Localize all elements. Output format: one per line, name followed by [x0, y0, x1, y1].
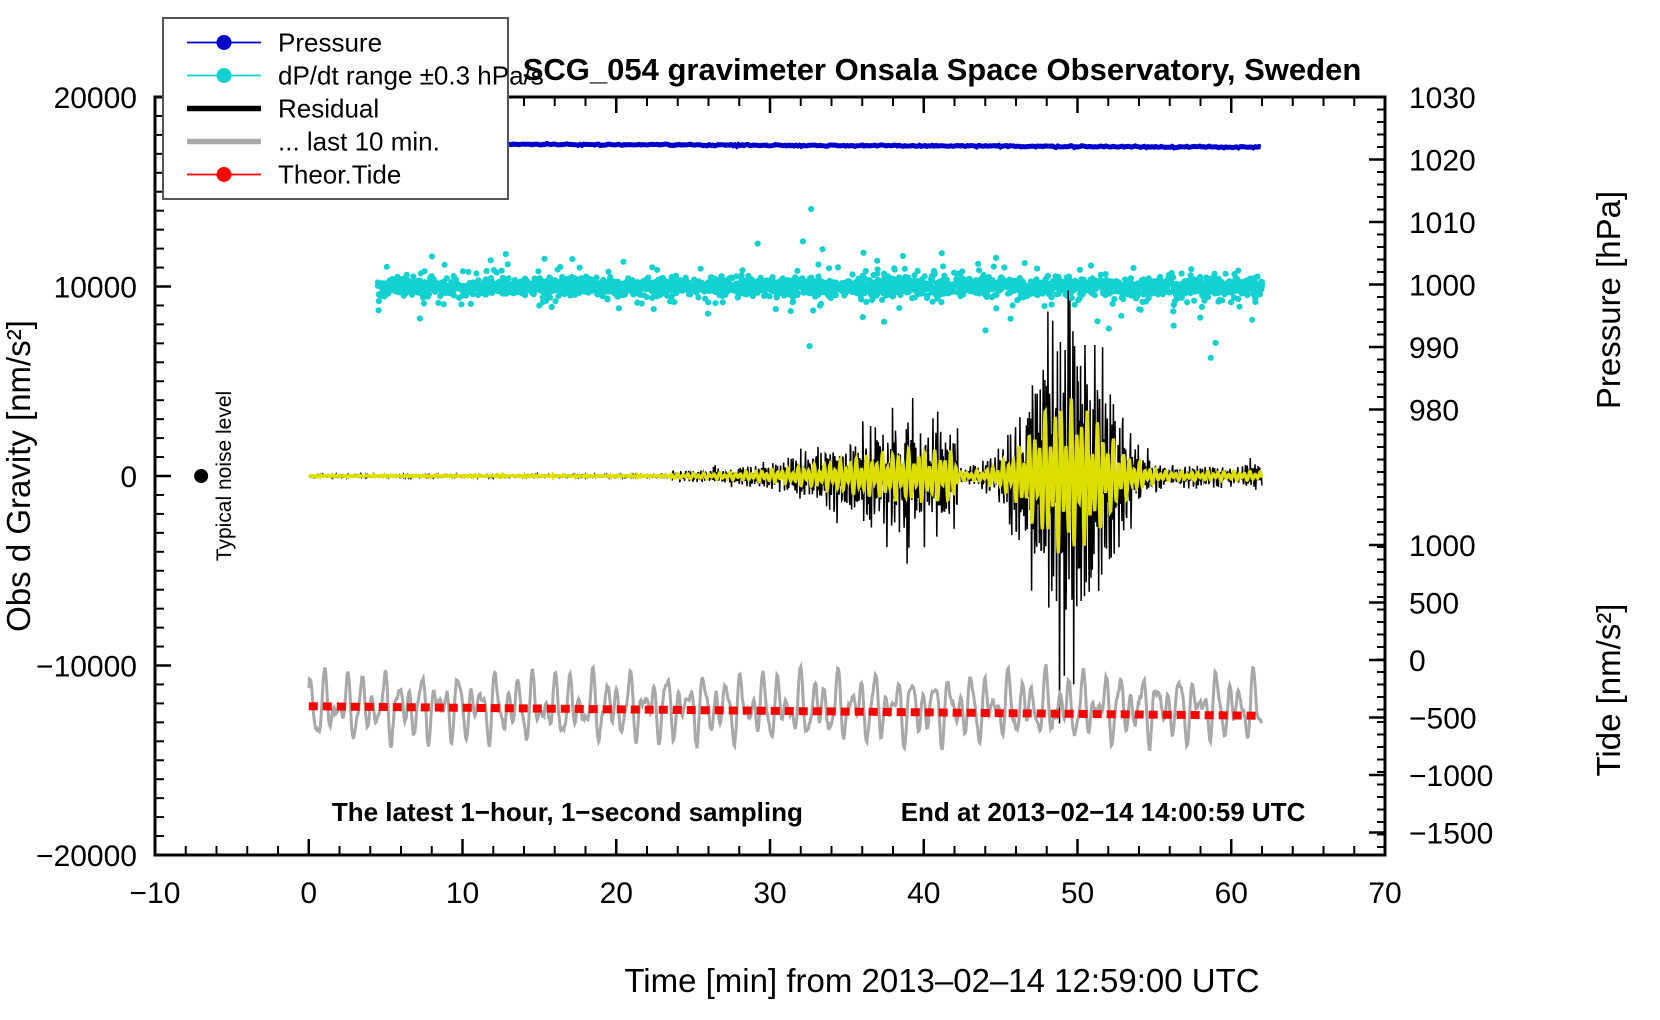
dpdt-point	[842, 287, 848, 293]
dpdt-point	[889, 278, 895, 284]
dpdt-point	[1250, 284, 1256, 290]
dpdt-point	[1171, 323, 1177, 329]
x-tick-label: 10	[446, 877, 479, 910]
dpdt-point	[1056, 276, 1062, 282]
dpdt-point	[1130, 265, 1136, 271]
dpdt-point	[1244, 292, 1250, 298]
dpdt-point	[815, 273, 821, 279]
dpdt-point	[1022, 260, 1028, 266]
legend-label: Theor.Tide	[278, 160, 401, 190]
dpdt-point	[1191, 298, 1197, 304]
dpdt-point	[984, 294, 990, 300]
dpdt-point	[1219, 297, 1225, 303]
dpdt-point	[675, 281, 681, 287]
dpdt-point	[866, 286, 872, 292]
sampling-note: The latest 1−hour, 1−second sampling	[332, 797, 803, 827]
dpdt-point	[710, 287, 716, 293]
dpdt-point	[544, 288, 550, 294]
dpdt-point	[641, 292, 647, 298]
dpdt-point	[891, 265, 897, 271]
dpdt-point	[554, 283, 560, 289]
dpdt-point	[1006, 277, 1012, 283]
dpdt-point	[1103, 271, 1109, 277]
dpdt-point	[853, 279, 859, 285]
dpdt-point	[686, 280, 692, 286]
dpdt-point	[1106, 285, 1112, 291]
dpdt-point	[469, 286, 475, 292]
dpdt-point	[1092, 277, 1098, 283]
dpdt-point	[754, 285, 760, 291]
dpdt-point	[1005, 291, 1011, 297]
gravimeter-chart: SCG_054 gravimeter Onsala Space Observat…	[0, 0, 1660, 1020]
y-tick-label-left: 20000	[54, 82, 137, 115]
dpdt-point	[1171, 302, 1177, 308]
dpdt-point	[1170, 308, 1176, 314]
dpdt-point	[1094, 318, 1100, 324]
dpdt-point	[770, 274, 776, 280]
dpdt-point	[1233, 275, 1239, 281]
dpdt-point	[881, 319, 887, 325]
dpdt-point	[659, 276, 665, 282]
dpdt-point	[607, 274, 613, 280]
dpdt-point	[993, 255, 999, 261]
dpdt-point	[1139, 277, 1145, 283]
dpdt-point	[666, 279, 672, 285]
dpdt-point	[772, 286, 778, 292]
dpdt-point	[1053, 291, 1059, 297]
dpdt-point	[860, 273, 866, 279]
dpdt-point	[980, 276, 986, 282]
dpdt-point	[676, 287, 682, 293]
dpdt-point	[1139, 299, 1145, 305]
dpdt-point	[922, 273, 928, 279]
x-tick-label: 70	[1368, 877, 1401, 910]
dpdt-point	[1119, 295, 1125, 301]
dpdt-point	[777, 290, 783, 296]
dpdt-point	[712, 300, 718, 306]
y-tick-label-pressure: 1020	[1409, 145, 1476, 178]
dpdt-point	[875, 290, 881, 296]
x-tick-label: 30	[753, 877, 786, 910]
dpdt-point	[1001, 264, 1007, 270]
dpdt-point	[1034, 266, 1040, 272]
dpdt-point	[1236, 304, 1242, 310]
dpdt-point	[500, 275, 506, 281]
dpdt-point	[896, 305, 902, 311]
dpdt-point	[572, 276, 578, 282]
dpdt-point	[614, 280, 620, 286]
dpdt-point	[705, 311, 711, 317]
dpdt-point	[1223, 271, 1229, 277]
dpdt-point	[591, 278, 597, 284]
dpdt-point	[935, 288, 941, 294]
y-tick-label-pressure: 1010	[1409, 207, 1476, 240]
dpdt-point	[421, 300, 427, 306]
dpdt-point	[947, 287, 953, 293]
y-tick-label-pressure: 1000	[1409, 270, 1476, 303]
dpdt-point	[800, 238, 806, 244]
dpdt-point	[1018, 279, 1024, 285]
dpdt-point	[905, 282, 911, 288]
dpdt-point	[1077, 267, 1083, 273]
dpdt-point	[924, 295, 930, 301]
dpdt-point	[863, 299, 869, 305]
dpdt-point	[484, 281, 490, 287]
dpdt-point	[414, 278, 420, 284]
dpdt-point	[967, 280, 973, 286]
dpdt-point	[1169, 270, 1175, 276]
dpdt-point	[860, 314, 866, 320]
dpdt-point	[460, 268, 466, 274]
dpdt-point	[533, 277, 539, 283]
dpdt-point	[993, 305, 999, 311]
dpdt-point	[733, 273, 739, 279]
dpdt-point	[646, 280, 652, 286]
dpdt-point	[815, 261, 821, 267]
y-axis-label-left: Obs d Gravity [nm/s²]	[0, 320, 37, 632]
dpdt-point	[707, 279, 713, 285]
dpdt-point	[550, 287, 556, 293]
dpdt-point	[597, 281, 603, 287]
dpdt-point	[957, 283, 963, 289]
x-axis-label: Time [min] from 2013‒02‒14 12:59:00 UTC	[624, 962, 1259, 999]
dpdt-point	[1116, 279, 1122, 285]
dpdt-point	[1045, 282, 1051, 288]
dpdt-point	[519, 286, 525, 292]
typical-noise-marker	[194, 469, 208, 483]
dpdt-point	[826, 265, 832, 271]
legend-label: Residual	[278, 94, 379, 124]
dpdt-point	[934, 280, 940, 286]
dpdt-point	[567, 292, 573, 298]
legend-swatch-dot	[217, 167, 232, 182]
y-tick-label-left: −20000	[36, 840, 137, 873]
x-tick-label: 60	[1215, 877, 1248, 910]
y-tick-label-left: 10000	[54, 272, 137, 305]
x-tick-label: −10	[130, 877, 181, 910]
dpdt-point	[1003, 283, 1009, 289]
dpdt-point	[651, 306, 657, 312]
x-tick-label: 50	[1061, 877, 1094, 910]
legend-swatch-dot	[217, 68, 232, 83]
dpdt-point	[535, 268, 541, 274]
dpdt-point	[1149, 289, 1155, 295]
dpdt-point	[604, 295, 610, 301]
dpdt-point	[630, 279, 636, 285]
dpdt-point	[512, 277, 518, 283]
chart-title: SCG_054 gravimeter Onsala Space Observat…	[523, 52, 1362, 87]
dpdt-point	[411, 285, 417, 291]
dpdt-point	[879, 297, 885, 303]
dpdt-point	[603, 283, 609, 289]
dpdt-point	[900, 253, 906, 259]
dpdt-point	[842, 282, 848, 288]
y-tick-label-tide: −500	[1409, 703, 1477, 736]
dpdt-point	[940, 263, 946, 269]
dpdt-point	[1220, 288, 1226, 294]
dpdt-point	[739, 267, 745, 273]
dpdt-point	[639, 300, 645, 306]
legend-label: Pressure	[278, 28, 382, 58]
dpdt-point	[1127, 288, 1133, 294]
dpdt-point	[543, 298, 549, 304]
dpdt-point	[988, 278, 994, 284]
dpdt-point	[773, 306, 779, 312]
dpdt-point	[1078, 276, 1084, 282]
y-axis-label-right-tide: Tide [nm/s²]	[1590, 604, 1627, 777]
dpdt-point	[992, 292, 998, 298]
dpdt-point	[376, 307, 382, 313]
dpdt-point	[764, 292, 770, 298]
dpdt-point	[957, 271, 963, 277]
dpdt-point	[881, 271, 887, 277]
dpdt-point	[879, 278, 885, 284]
dpdt-point	[467, 280, 473, 286]
dpdt-point	[1017, 289, 1023, 295]
dpdt-point	[719, 275, 725, 281]
dpdt-point	[905, 275, 911, 281]
dpdt-point	[421, 268, 427, 274]
y-tick-label-left: −10000	[36, 651, 137, 684]
dpdt-point	[384, 264, 390, 270]
dpdt-point	[505, 261, 511, 267]
dpdt-point	[380, 280, 386, 286]
dpdt-point	[381, 293, 387, 299]
end-time-note: End at 2013−02−14 14:00:59 UTC	[901, 797, 1306, 827]
dpdt-point	[982, 327, 988, 333]
dpdt-point	[456, 295, 462, 301]
dpdt-point	[437, 281, 443, 287]
dpdt-point	[726, 276, 732, 282]
dpdt-point	[1033, 292, 1039, 298]
dpdt-point	[531, 291, 537, 297]
dpdt-point	[765, 280, 771, 286]
dpdt-point	[1136, 306, 1142, 312]
dpdt-point	[503, 251, 509, 257]
dpdt-point	[1180, 280, 1186, 286]
dpdt-point	[552, 298, 558, 304]
x-tick-label: 40	[907, 877, 940, 910]
dpdt-point	[939, 250, 945, 256]
dpdt-point	[452, 281, 458, 287]
dpdt-point	[1231, 288, 1237, 294]
dpdt-point	[938, 299, 944, 305]
dpdt-point	[577, 265, 583, 271]
dpdt-point	[1008, 316, 1014, 322]
dpdt-point	[506, 275, 512, 281]
dpdt-point	[720, 299, 726, 305]
dpdt-point	[1049, 302, 1055, 308]
dpdt-point	[1166, 278, 1172, 284]
dpdt-point	[1027, 287, 1033, 293]
dpdt-point	[1100, 282, 1106, 288]
dpdt-point	[1249, 317, 1255, 323]
dpdt-point	[697, 284, 703, 290]
dpdt-point	[957, 290, 963, 296]
dpdt-point	[555, 267, 561, 273]
y-tick-label-tide: 0	[1409, 645, 1426, 678]
dpdt-point	[442, 262, 448, 268]
dpdt-point	[1156, 277, 1162, 283]
y-tick-label-tide: −1500	[1409, 818, 1493, 851]
dpdt-point	[807, 343, 813, 349]
dpdt-point	[800, 277, 806, 283]
dpdt-point	[743, 284, 749, 290]
dpdt-point	[417, 315, 423, 321]
dpdt-point	[488, 257, 494, 263]
dpdt-point	[909, 295, 915, 301]
dpdt-point	[818, 301, 824, 307]
legend-swatch-dot	[217, 35, 232, 50]
y-axis-label-right-pressure: Pressure [hPa]	[1590, 191, 1627, 409]
dpdt-point	[777, 283, 783, 289]
dpdt-point	[858, 295, 864, 301]
dpdt-point	[716, 292, 722, 298]
dpdt-point	[1226, 278, 1232, 284]
dpdt-point	[499, 283, 505, 289]
dpdt-point	[973, 277, 979, 283]
dpdt-point	[636, 285, 642, 291]
dpdt-point	[915, 268, 921, 274]
dpdt-point	[725, 287, 731, 293]
dpdt-point	[1251, 277, 1257, 283]
dpdt-point	[1087, 286, 1093, 292]
dpdt-point	[429, 284, 435, 290]
dpdt-point	[584, 278, 590, 284]
dpdt-point	[849, 271, 855, 277]
dpdt-point	[810, 307, 816, 313]
y-tick-label-tide: −1000	[1409, 760, 1493, 793]
dpdt-point	[825, 291, 831, 297]
dpdt-point	[574, 283, 580, 289]
dpdt-point	[874, 258, 880, 264]
dpdt-point	[1205, 294, 1211, 300]
dpdt-point	[881, 289, 887, 295]
dpdt-point	[1073, 282, 1079, 288]
y-tick-label-pressure: 1030	[1409, 82, 1476, 115]
dpdt-point	[833, 292, 839, 298]
dpdt-point	[806, 290, 812, 296]
dpdt-point	[404, 276, 410, 282]
dpdt-point	[788, 308, 794, 314]
dpdt-point	[578, 275, 584, 281]
y-tick-label-tide: 500	[1409, 588, 1459, 621]
dpdt-point	[693, 289, 699, 295]
dpdt-point	[951, 270, 957, 276]
dpdt-point	[441, 301, 447, 307]
dpdt-point	[813, 283, 819, 289]
dpdt-point	[541, 256, 547, 262]
dpdt-point	[421, 279, 427, 285]
dpdt-point	[976, 267, 982, 273]
dpdt-point	[549, 304, 555, 310]
dpdt-point	[705, 299, 711, 305]
dpdt-point	[1057, 282, 1063, 288]
dpdt-point	[394, 274, 400, 280]
dpdt-point	[1010, 302, 1016, 308]
dpdt-point	[1171, 286, 1177, 292]
legend-group[interactable]: PressuredP/dt range ±0.3 hPa/sResidual..…	[163, 18, 544, 199]
dpdt-point	[888, 286, 894, 292]
dpdt-point	[1106, 326, 1112, 332]
dpdt-point	[468, 301, 474, 307]
plot-canvas: SCG_054 gravimeter Onsala Space Observat…	[0, 0, 1660, 1020]
dpdt-point	[698, 266, 704, 272]
dpdt-point	[589, 286, 595, 292]
dpdt-point	[495, 287, 501, 293]
x-tick-label: 0	[300, 877, 317, 910]
dpdt-point	[479, 289, 485, 295]
dpdt-point	[547, 282, 553, 288]
dpdt-point	[458, 301, 464, 307]
dpdt-point	[1228, 299, 1234, 305]
dpdt-point	[499, 268, 505, 274]
dpdt-point	[974, 289, 980, 295]
dpdt-point	[484, 268, 490, 274]
dpdt-point	[896, 274, 902, 280]
dpdt-point	[612, 286, 618, 292]
dpdt-point	[941, 273, 947, 279]
dpdt-point	[790, 299, 796, 305]
dpdt-point	[562, 279, 568, 285]
dpdt-point	[435, 300, 441, 306]
dpdt-point	[429, 273, 435, 279]
dpdt-point	[1211, 274, 1217, 280]
dpdt-point	[1133, 295, 1139, 301]
dpdt-point	[735, 283, 741, 289]
dpdt-point	[794, 268, 800, 274]
dpdt-point	[720, 283, 726, 289]
dpdt-point	[801, 290, 807, 296]
dpdt-point	[1184, 299, 1190, 305]
dpdt-point	[819, 246, 825, 252]
dpdt-point	[1205, 285, 1211, 291]
dpdt-point	[621, 289, 627, 295]
dpdt-point	[1014, 297, 1020, 303]
dpdt-point	[808, 206, 814, 212]
dpdt-point	[759, 281, 765, 287]
dpdt-point	[815, 292, 821, 298]
dpdt-point	[1088, 263, 1094, 269]
dpdt-point	[755, 241, 761, 247]
dpdt-point	[1199, 286, 1205, 292]
dpdt-point	[669, 293, 675, 299]
dpdt-point	[1021, 294, 1027, 300]
dpdt-point	[784, 286, 790, 292]
dpdt-point	[1041, 303, 1047, 309]
y-tick-label-left: 0	[120, 461, 137, 494]
dpdt-point	[405, 287, 411, 293]
dpdt-point	[743, 291, 749, 297]
dpdt-point	[429, 253, 435, 259]
dpdt-point	[1110, 301, 1116, 307]
dpdt-point	[871, 272, 877, 278]
dpdt-point	[991, 264, 997, 270]
legend-label: dP/dt range ±0.3 hPa/s	[278, 61, 544, 91]
dpdt-point	[444, 288, 450, 294]
dpdt-point	[854, 284, 860, 290]
typical-noise-label: Typical noise level	[213, 391, 236, 561]
dpdt-point	[929, 279, 935, 285]
dpdt-point	[929, 273, 935, 279]
dpdt-point	[507, 282, 513, 288]
y-tick-label-pressure: 980	[1409, 395, 1459, 428]
dpdt-point	[1240, 281, 1246, 287]
dpdt-point	[826, 283, 832, 289]
dpdt-point	[1144, 285, 1150, 291]
dpdt-point	[902, 266, 908, 272]
dpdt-point	[835, 264, 841, 270]
